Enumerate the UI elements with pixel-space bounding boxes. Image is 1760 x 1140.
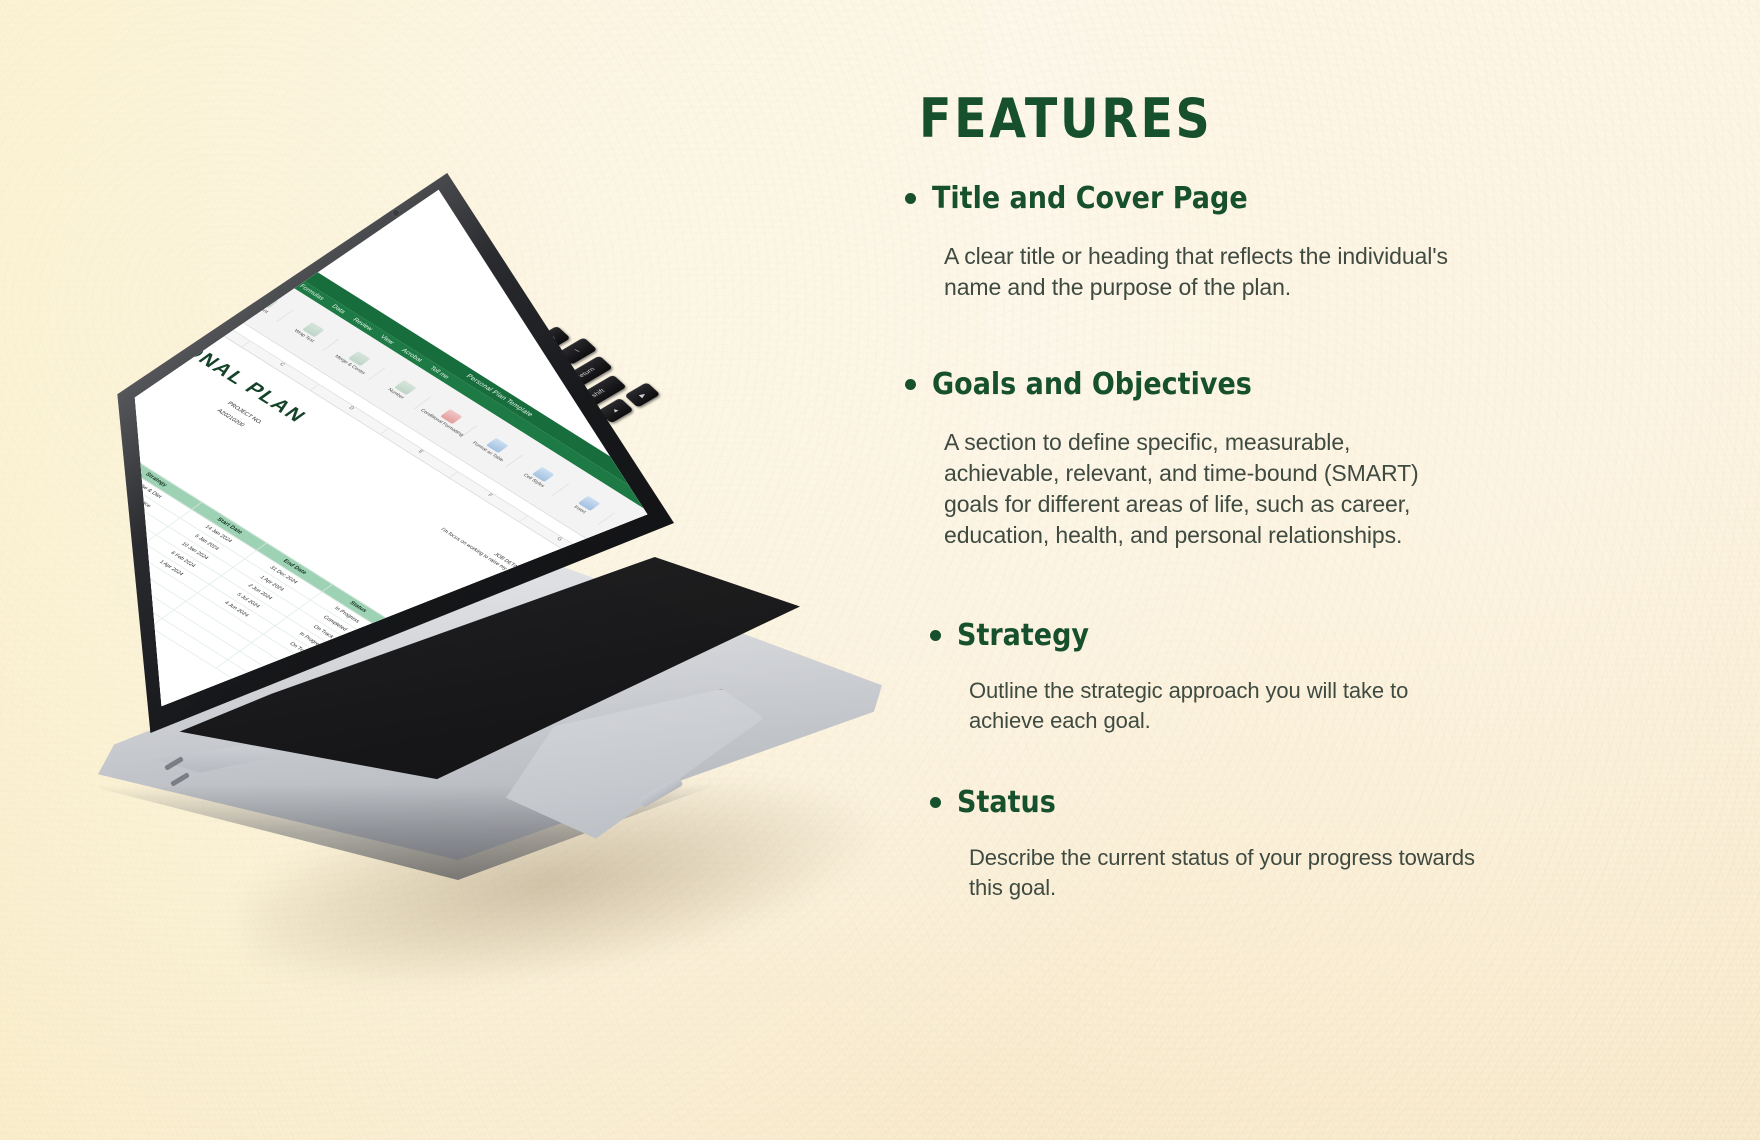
feature-heading: Goals and Objectives — [932, 366, 1252, 404]
bullet-icon — [930, 630, 941, 641]
bullet-icon — [930, 797, 941, 808]
ribbon-label-paste: Paste — [159, 244, 174, 254]
feature-title-and-cover-page: Title and Cover Page A clear title or he… — [905, 180, 1545, 303]
feature-heading: Status — [957, 784, 1056, 822]
feature-heading: Strategy — [957, 617, 1089, 655]
tab-page-layout[interactable]: Page Layout — [258, 258, 293, 281]
ribbon-group-paste[interactable]: Paste — [144, 226, 202, 264]
ribbon-group-conditional-formatting[interactable]: Conditional Formatting — [419, 399, 477, 437]
ribbon-group-wrap-text[interactable]: Wrap Text — [281, 313, 339, 351]
font-size-box[interactable]: 11 — [173, 285, 183, 292]
feature-strategy: Strategy Outline the strategic approach … — [930, 617, 1545, 736]
feature-description: Outline the strategic approach you will … — [969, 676, 1479, 736]
spacer — [905, 575, 1545, 617]
ribbon-group-cell-styles[interactable]: Cell Styles — [511, 457, 569, 495]
feature-heading: Title and Cover Page — [932, 180, 1248, 218]
feature-description: A clear title or heading that reflects t… — [944, 241, 1454, 304]
bullet-icon — [905, 193, 916, 204]
tab-insert[interactable]: Insert — [212, 230, 231, 242]
page-title: FEATURES — [919, 92, 1470, 146]
ribbon-group-merge-center[interactable]: Merge & Center — [327, 341, 385, 379]
ribbon-group-insert[interactable]: Insert — [557, 486, 615, 524]
spacer — [905, 326, 1545, 366]
spacer — [905, 758, 1545, 784]
name-box[interactable]: A1 — [122, 251, 129, 258]
webcam-icon — [393, 210, 399, 216]
bullet-icon — [905, 379, 916, 390]
laptop-mockup: esc ~ 1 2 3 4 5 6 7 8 9 0 - — [60, 85, 890, 925]
column-header-a[interactable]: A — [122, 254, 181, 303]
key-arrow-right[interactable]: ▶ — [624, 382, 660, 408]
ribbon-label-conditional-formatting: Conditional Formatting — [419, 408, 465, 437]
ribbon-group-format-as-table[interactable]: Format as Table — [465, 428, 523, 466]
font-icon — [210, 264, 233, 279]
ribbon-label-font: Font — [206, 273, 219, 282]
features-panel: FEATURES Title and Cover Page A clear ti… — [905, 92, 1545, 925]
feature-status: Status Describe the current status of yo… — [930, 784, 1545, 903]
feature-description: Describe the current status of your prog… — [969, 843, 1479, 903]
number-format-box[interactable]: General — [183, 291, 205, 305]
ribbon-group-font[interactable]: Font — [189, 255, 247, 293]
tab-draw[interactable]: Draw — [236, 244, 254, 256]
font-name-box[interactable]: Pro Display Nov2 — [130, 258, 173, 285]
tab-home[interactable]: Home — [179, 209, 209, 228]
paste-icon — [164, 235, 187, 250]
feature-goals-and-objectives: Goals and Objectives A section to define… — [905, 366, 1545, 552]
feature-description: A section to define specific, measurable… — [944, 427, 1454, 552]
ribbon-group-number[interactable]: Number — [373, 370, 431, 408]
